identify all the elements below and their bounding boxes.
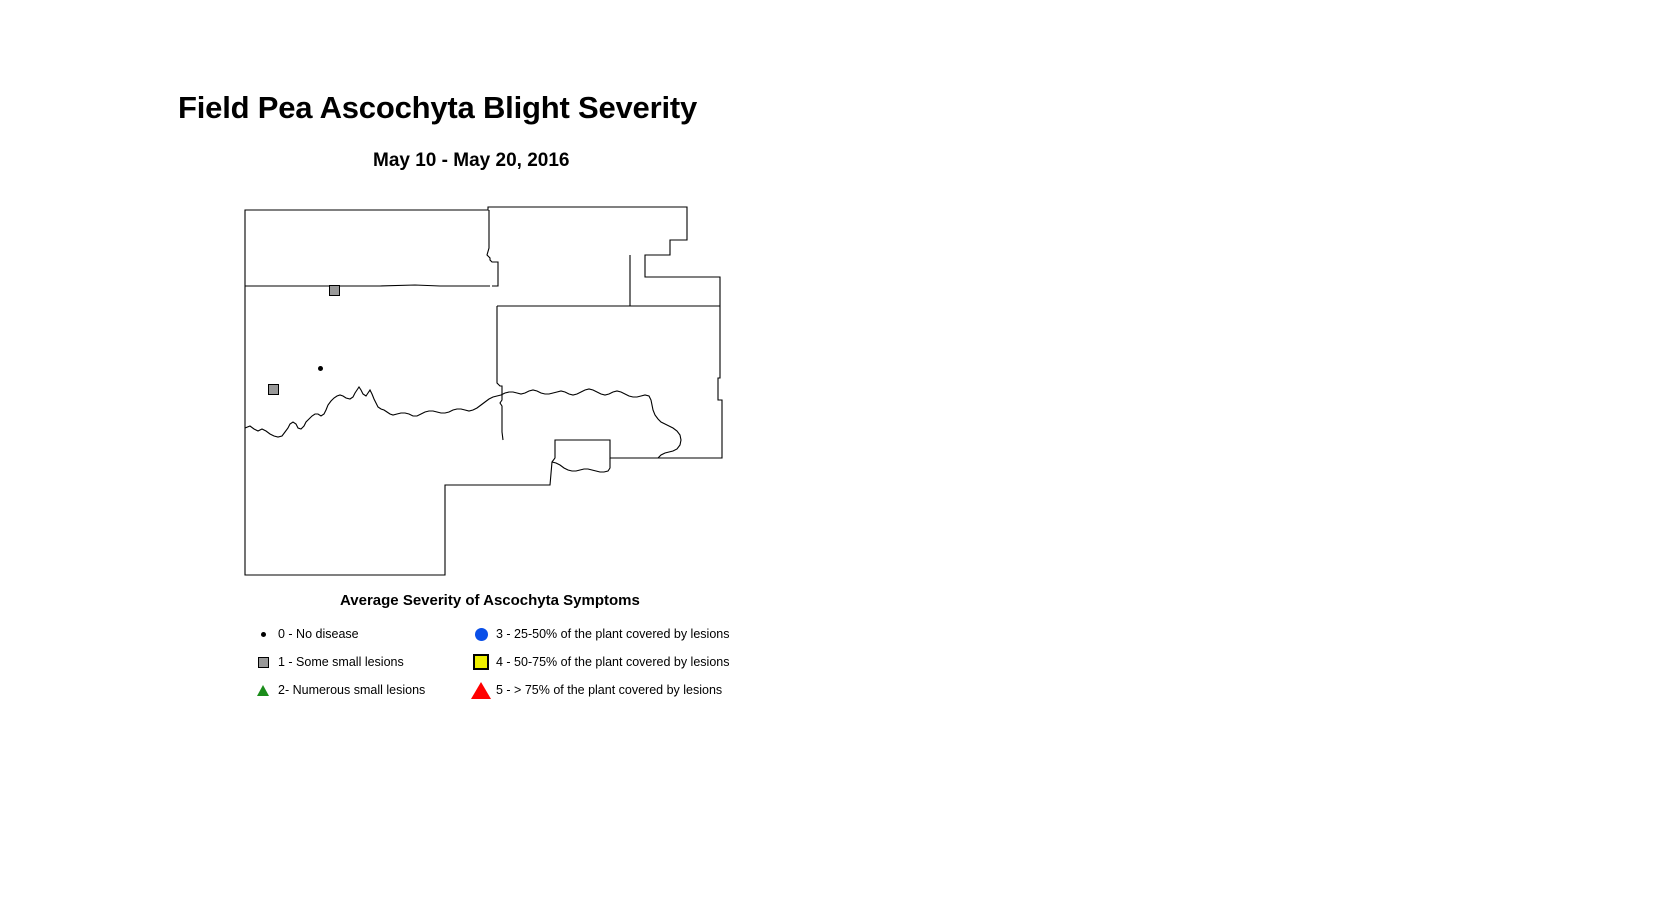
region-outer-boundary [245,207,722,575]
northeast-block-west-line [487,210,498,286]
legend-item-label: 0 - No disease [278,627,359,641]
map-point-severity-1-north[interactable] [329,285,340,296]
river-boundary-lower [552,458,610,472]
severity-0-dot-icon [250,624,276,644]
legend-column-left: 0 - No disease 1 - Some small lesions 2-… [250,620,425,704]
legend-item-label: 2- Numerous small lesions [278,683,425,697]
east-county-vertical [497,306,503,440]
legend-item-severity-4[interactable]: 4 - 50-75% of the plant covered by lesio… [468,648,729,676]
legend-item-severity-5[interactable]: 5 - > 75% of the plant covered by lesion… [468,676,729,704]
legend-item-label: 5 - > 75% of the plant covered by lesion… [496,683,722,697]
legend-column-right: 3 - 25-50% of the plant covered by lesio… [468,620,729,704]
page-title: Field Pea Ascochyta Blight Severity [178,90,697,126]
map-boundaries-svg [240,200,740,590]
river-boundary [245,387,681,458]
legend-item-label: 3 - 25-50% of the plant covered by lesio… [496,627,729,641]
legend-title: Average Severity of Ascochyta Symptoms [340,592,640,609]
severity-2-triangle-icon [250,680,276,700]
map-point-severity-1-west[interactable] [268,384,279,395]
legend-item-label: 4 - 50-75% of the plant covered by lesio… [496,655,729,669]
map-figure [240,200,740,590]
severity-3-circle-icon [468,624,494,644]
boundary-outline-group [245,207,722,575]
north-county-line [245,285,490,286]
legend-item-severity-3[interactable]: 3 - 25-50% of the plant covered by lesio… [468,620,729,648]
severity-1-square-icon [250,652,276,672]
severity-5-triangle-icon [468,680,494,700]
map-legend: Average Severity of Ascochyta Symptoms 0… [240,590,860,710]
legend-item-severity-2[interactable]: 2- Numerous small lesions [250,676,425,704]
legend-item-severity-0[interactable]: 0 - No disease [250,620,425,648]
legend-item-severity-1[interactable]: 1 - Some small lesions [250,648,425,676]
page-subtitle: May 10 - May 20, 2016 [373,150,569,172]
map-point-severity-0[interactable] [318,366,323,371]
severity-4-square-icon [468,652,494,672]
map-page: Field Pea Ascochyta Blight Severity May … [0,0,1673,900]
legend-item-label: 1 - Some small lesions [278,655,404,669]
